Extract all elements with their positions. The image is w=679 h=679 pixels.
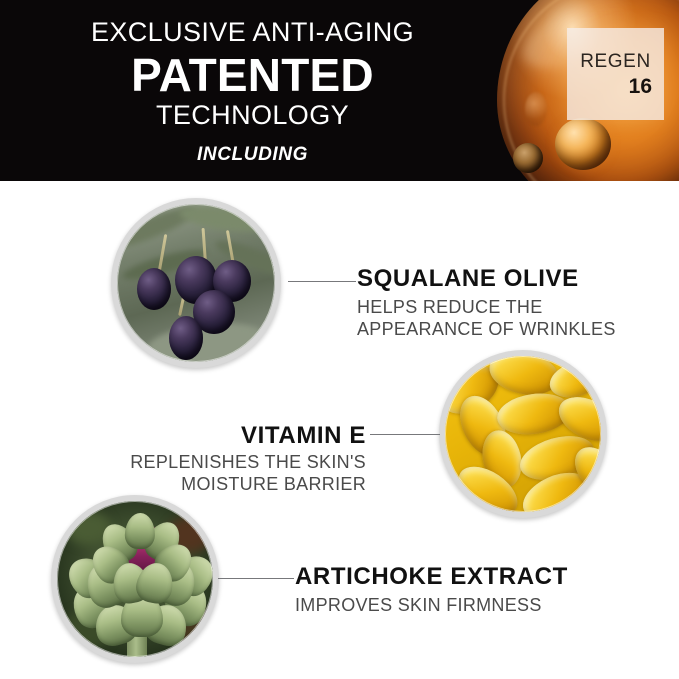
ingredient-description-vitamin-e: REPLENISHES THE SKIN'S MOISTURE BARRIER: [130, 452, 366, 496]
connector-line-vitamin-e: [370, 434, 440, 435]
regen-badge-name: REGEN: [580, 52, 651, 71]
connector-line-artichoke-extract: [218, 578, 294, 579]
banner-including-label: INCLUDING: [0, 145, 505, 164]
banner-headline-block: EXCLUSIVE ANTI-AGING PATENTED TECHNOLOGY…: [0, 0, 505, 181]
regen-badge: REGEN 16: [567, 28, 664, 120]
olive-berry: [169, 316, 203, 360]
banner-subhead: TECHNOLOGY: [0, 102, 505, 129]
olive-berry: [137, 268, 171, 310]
ingredient-title-vitamin-e: VITAMIN E: [241, 424, 366, 448]
ingredient-description-squalane-olive: HELPS REDUCE THE APPEARANCE OF WRINKLES: [357, 297, 616, 341]
connector-line-squalane-olive: [288, 281, 356, 282]
oil-bubble-small: [513, 143, 543, 173]
regen-badge-number: 16: [629, 76, 652, 97]
oil-bubble-medium: [555, 118, 611, 170]
vitamin-e-capsules-photo: [445, 356, 601, 512]
ingredient-image-squalane-olive: [111, 198, 281, 368]
header-banner: REGEN 16 EXCLUSIVE ANTI-AGING PATENTED T…: [0, 0, 679, 181]
ingredient-image-vitamin-e: [439, 350, 607, 518]
banner-eyebrow: EXCLUSIVE ANTI-AGING: [0, 19, 505, 46]
oil-bubble-small-faint: [525, 92, 547, 126]
ingredient-description-artichoke-extract: IMPROVES SKIN FIRMNESS: [295, 595, 542, 617]
banner-headline: PATENTED: [0, 52, 505, 98]
ingredient-infographic: REGEN 16 EXCLUSIVE ANTI-AGING PATENTED T…: [0, 0, 679, 679]
artichoke-photo: [57, 501, 213, 657]
olive-photo: [117, 204, 275, 362]
ingredient-title-artichoke-extract: ARTICHOKE EXTRACT: [295, 565, 568, 589]
ingredient-image-artichoke-extract: [51, 495, 219, 663]
ingredient-title-squalane-olive: SQUALANE OLIVE: [357, 267, 579, 291]
